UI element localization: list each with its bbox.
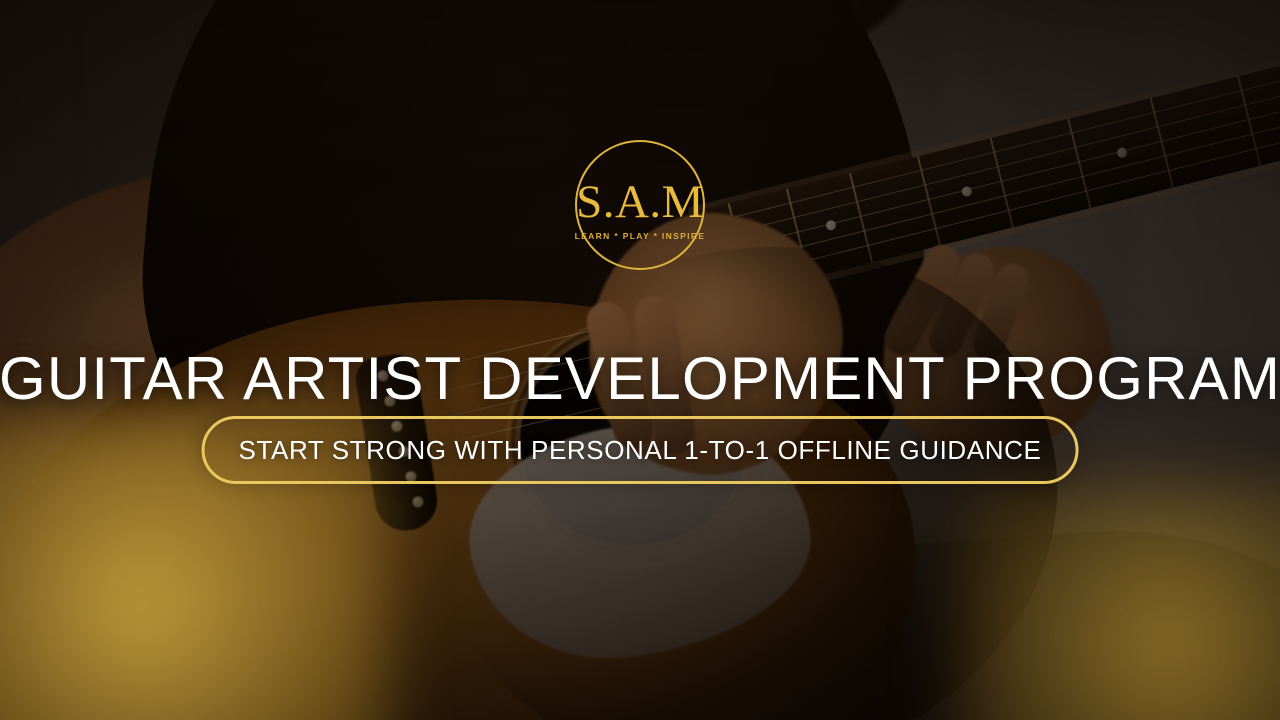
logo-monogram: S.A.M: [576, 179, 704, 226]
sam-logo: S.A.M LEARN * PLAY * INSPIRE: [575, 140, 705, 270]
subtitle-text: START STRONG WITH PERSONAL 1-TO-1 OFFLIN…: [239, 435, 1042, 466]
page-title: GUITAR ARTIST DEVELOPMENT PROGRAM: [0, 349, 1280, 409]
logo-tagline: LEARN * PLAY * INSPIRE: [575, 231, 706, 241]
subtitle-pill: START STRONG WITH PERSONAL 1-TO-1 OFFLIN…: [202, 416, 1079, 484]
promo-banner: S.A.M LEARN * PLAY * INSPIRE GUITAR ARTI…: [0, 0, 1280, 720]
banner-content: S.A.M LEARN * PLAY * INSPIRE GUITAR ARTI…: [0, 0, 1280, 720]
